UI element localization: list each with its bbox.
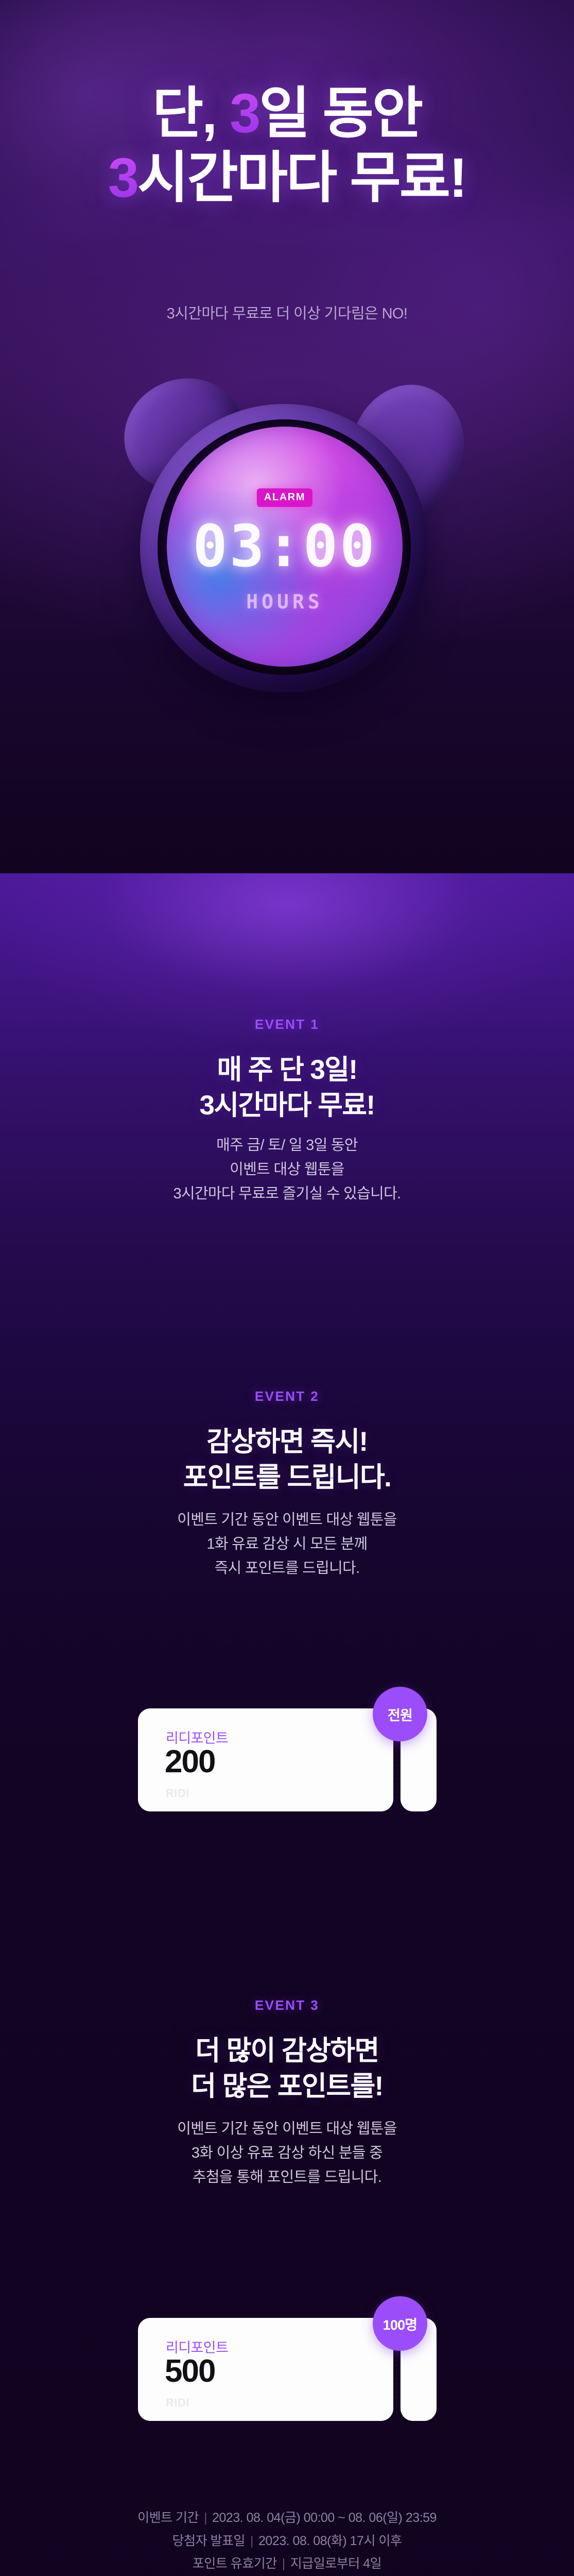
event-3-title: 더 많이 감상하면 더 많은 포인트를! <box>0 2033 574 2105</box>
alarm-clock-illustration: ALARM 03:00 HOURS <box>0 361 574 701</box>
event-1-description: 매주 금/ 토/ 일 3일 동안 이벤트 대상 웹툰을 3시간마다 무료로 즐기… <box>0 1133 574 1206</box>
event-3-desc-line2: 3화 이상 유료 감상 하신 분들 중 <box>0 2141 574 2165</box>
event-2-point-card-zone: 리디포인트 200 RIDI 전원 <box>0 1690 574 1824</box>
footer-key: 당첨자 발표일 <box>172 2534 245 2548</box>
footer-separator: | <box>245 2534 258 2548</box>
event-2-title: 감상하면 즉시! 포인트를 드립니다. <box>0 1425 574 1496</box>
event-3-title-line1: 더 많이 감상하면 <box>0 2033 574 2069</box>
clock-face: ALARM 03:00 HOURS <box>167 427 403 667</box>
event-1-desc-line1: 매주 금/ 토/ 일 3일 동안 <box>0 1133 574 1158</box>
event-2-desc-line1: 이벤트 기간 동안 이벤트 대상 웹툰을 <box>0 1508 574 1532</box>
clock-lcd-time: 03:00 <box>193 513 376 580</box>
clock-stage: ALARM 03:00 HOURS <box>119 361 454 701</box>
footer-value: 지급일로부터 4일 <box>290 2556 381 2571</box>
event-2-desc-line3: 즉시 포인트를 드립니다. <box>0 1556 574 1581</box>
event-1-label: EVENT 1 <box>0 1016 574 1032</box>
point-card[interactable]: 리디포인트 500 RIDI <box>138 2318 393 2421</box>
event-3-point-card-zone: 리디포인트 500 RIDI 100명 <box>0 2299 574 2433</box>
footer-line: 당첨자 발표일|2023. 08. 08(화) 17시 이후 <box>0 2530 574 2553</box>
point-card-badge: 100명 <box>373 2296 427 2351</box>
event-3-desc-line3: 추첨을 통해 포인트를 드립니다. <box>0 2165 574 2190</box>
event-2-label: EVENT 2 <box>0 1388 574 1404</box>
hero-subtitle: 3시간마다 무료로 더 이상 기다림은 NO! <box>0 301 574 323</box>
headline-text-3: 시간마다 무료! <box>137 146 466 209</box>
headline-text-1: 단, <box>152 82 230 144</box>
events-section: EVENT 1 매 주 단 3일! 3시간마다 무료! 매주 금/ 토/ 일 3… <box>0 873 574 2576</box>
event-1-title-line1: 매 주 단 3일! <box>0 1053 574 1088</box>
event-1-title: 매 주 단 3일! 3시간마다 무료! <box>0 1053 574 1124</box>
headline-accent-1: 3 <box>230 82 259 144</box>
event-1-desc-line2: 이벤트 대상 웹툰을 <box>0 1158 574 1182</box>
event-2-desc-line2: 1화 유료 감상 시 모든 분께 <box>0 1532 574 1556</box>
event-2-title-line2: 포인트를 드립니다. <box>0 1460 574 1496</box>
footer-key: 포인트 유효기간 <box>193 2556 277 2571</box>
footer-value: 2023. 08. 08(화) 17시 이후 <box>258 2534 402 2548</box>
clock-lcd-unit: HOURS <box>246 590 323 613</box>
promo-page: 단, 3일 동안 3시간마다 무료! 3시간마다 무료로 더 이상 기다림은 N… <box>0 0 574 2576</box>
hero-headline: 단, 3일 동안 3시간마다 무료! <box>0 82 574 209</box>
footer-key: 이벤트 기간 <box>137 2511 199 2525</box>
footer-separator: | <box>277 2556 290 2571</box>
event-1-title-line2: 3시간마다 무료! <box>0 1088 574 1124</box>
headline-text-2: 일 동안 <box>259 82 422 144</box>
event-3-title-line2: 더 많은 포인트를! <box>0 2069 574 2105</box>
footer-value: 2023. 08. 04(금) 00:00 ~ 08. 06(일) 23:59 <box>212 2511 437 2525</box>
point-card-badge: 전원 <box>373 1687 427 1741</box>
event-footer-info: 이벤트 기간|2023. 08. 04(금) 00:00 ~ 08. 06(일)… <box>0 2506 574 2575</box>
headline-accent-2: 3 <box>108 146 137 209</box>
alarm-badge: ALARM <box>257 488 312 507</box>
point-card-value: 500 <box>165 2353 215 2389</box>
event-1-desc-line3: 3시간마다 무료로 즐기실 수 있습니다. <box>0 1182 574 1206</box>
event-3-label: EVENT 3 <box>0 1997 574 2013</box>
point-card-brand: RIDI <box>166 1787 189 1800</box>
point-card-value: 200 <box>165 1743 215 1780</box>
event-3-description: 이벤트 기간 동안 이벤트 대상 웹툰을 3화 이상 유료 감상 하신 분들 중… <box>0 2117 574 2190</box>
footer-line: 이벤트 기간|2023. 08. 04(금) 00:00 ~ 08. 06(일)… <box>0 2506 574 2530</box>
event-3-desc-line1: 이벤트 기간 동안 이벤트 대상 웹툰을 <box>0 2117 574 2141</box>
footer-line: 포인트 유효기간|지급일로부터 4일 <box>0 2552 574 2575</box>
footer-separator: | <box>199 2511 212 2525</box>
point-card[interactable]: 리디포인트 200 RIDI <box>138 1708 393 1811</box>
point-card-brand: RIDI <box>166 2396 189 2410</box>
hero-section: 단, 3일 동안 3시간마다 무료! 3시간마다 무료로 더 이상 기다림은 N… <box>0 0 574 873</box>
event-2-description: 이벤트 기간 동안 이벤트 대상 웹툰을 1화 유료 감상 시 모든 분께 즉시… <box>0 1508 574 1581</box>
event-2-title-line1: 감상하면 즉시! <box>0 1425 574 1460</box>
